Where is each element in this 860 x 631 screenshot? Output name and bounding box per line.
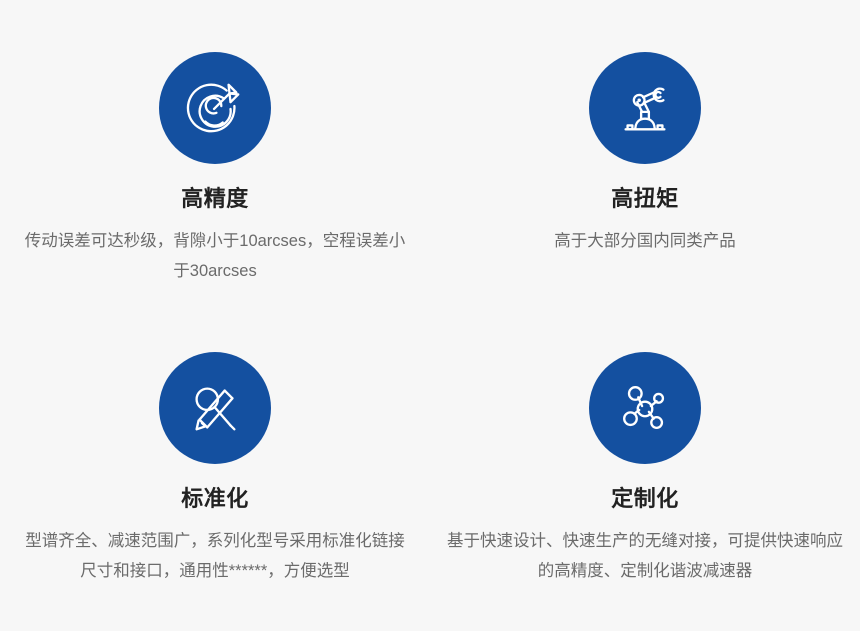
robot-arm-icon: [589, 52, 701, 164]
feature-card-customization: 定制化 基于快速设计、快速生产的无缝对接，可提供快速响应的高精度、定制化谐波减速…: [430, 308, 860, 631]
feature-card-standardization: 标准化 型谱齐全、减速范围广，系列化型号采用标准化链接尺寸和接口，通用性****…: [0, 308, 430, 631]
target-arrow-icon: [159, 52, 271, 164]
feature-description: 基于快速设计、快速生产的无缝对接，可提供快速响应的高精度、定制化谐波减速器: [445, 526, 845, 586]
feature-card-high-precision: 高精度 传动误差可达秒级，背隙小于10arcses，空程误差小于30arcses: [0, 0, 430, 308]
feature-description: 高于大部分国内同类产品: [455, 226, 835, 256]
feature-title: 标准化: [181, 486, 249, 512]
feature-title: 高扭矩: [611, 186, 679, 212]
feature-description: 型谱齐全、减速范围广，系列化型号采用标准化链接尺寸和接口，通用性******，方…: [20, 526, 410, 586]
feature-description: 传动误差可达秒级，背隙小于10arcses，空程误差小于30arcses: [20, 226, 410, 286]
feature-card-high-torque: 高扭矩 高于大部分国内同类产品: [430, 0, 860, 308]
features-grid: 高精度 传动误差可达秒级，背隙小于10arcses，空程误差小于30arcses: [0, 0, 860, 631]
feature-title: 高精度: [181, 186, 249, 212]
feature-title: 定制化: [611, 486, 679, 512]
molecule-network-icon: [589, 352, 701, 464]
magnifier-pencil-icon: [159, 352, 271, 464]
